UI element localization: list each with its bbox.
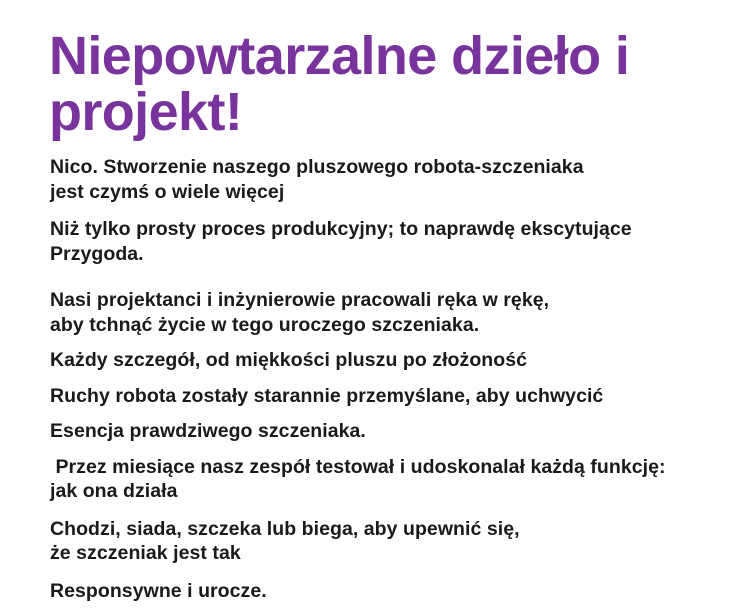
body-paragraph-3: Nasi projektanci i inżynierowie pracowal… xyxy=(50,288,715,337)
body-paragraph-6: Esencja prawdziwego szczeniaka. xyxy=(50,419,715,444)
body-paragraph-2: Niż tylko prosty proces produkcyjny; to … xyxy=(50,217,715,266)
body-paragraph-5: Ruchy robota zostały starannie przemyśla… xyxy=(50,384,715,409)
body-paragraph-4: Każdy szczegół, od miękkości pluszu po z… xyxy=(50,348,715,373)
body-copy: Nico. Stworzenie naszego pluszowego robo… xyxy=(50,155,715,603)
page-title: Niepowtarzalne dzieło i projekt! xyxy=(49,28,649,140)
body-paragraph-9: Responsywne i urocze. xyxy=(50,579,715,604)
body-paragraph-1: Nico. Stworzenie naszego pluszowego robo… xyxy=(50,155,715,204)
body-paragraph-7: Przez miesiące nasz zespół testował i ud… xyxy=(50,455,715,504)
document-page: Niepowtarzalne dzieło i projekt! Nico. S… xyxy=(0,0,750,611)
body-paragraph-8: Chodzi, siada, szczeka lub biega, aby up… xyxy=(50,517,715,566)
